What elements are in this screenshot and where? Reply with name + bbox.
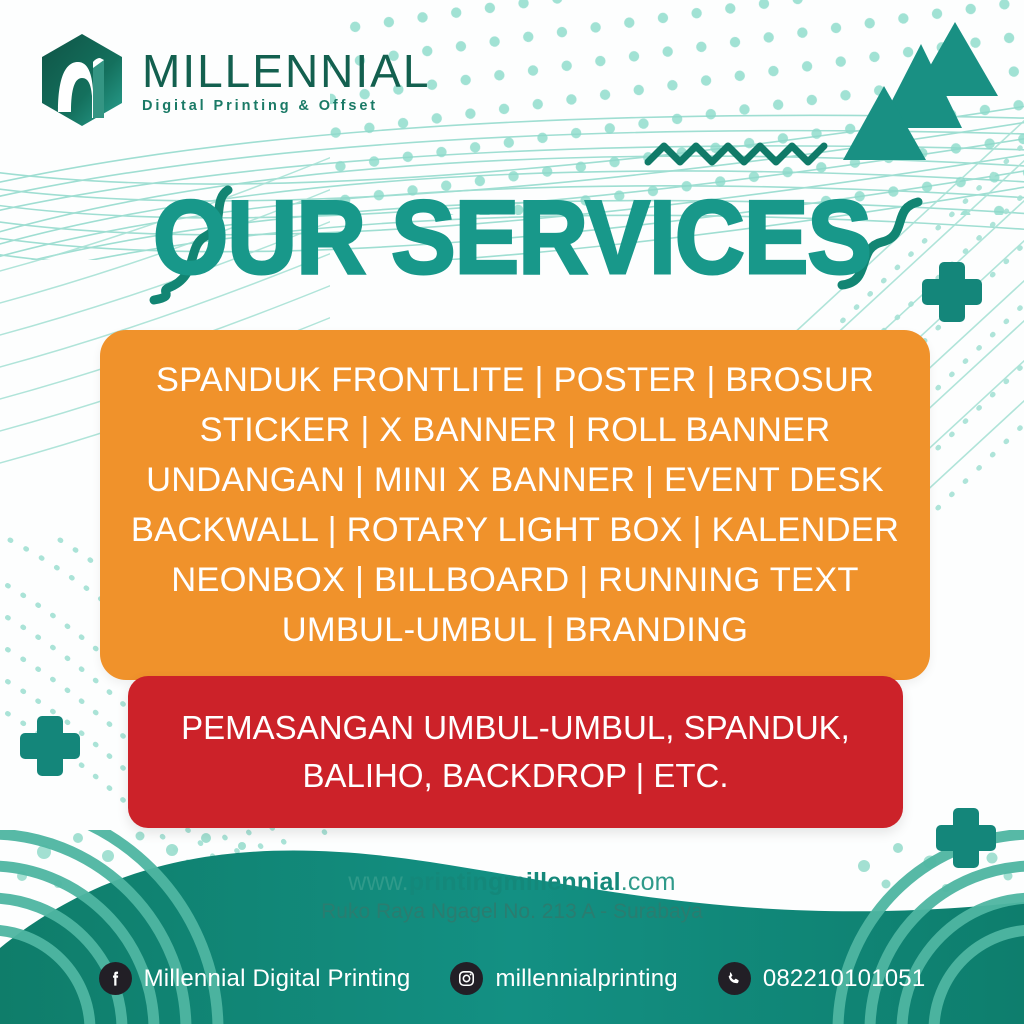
installation-line: PEMASANGAN UMBUL-UMBUL, SPANDUK, (181, 704, 850, 752)
website-suffix: .com (621, 868, 676, 896)
service-line: NEONBOX | BILLBOARD | RUNNING TEXT (171, 555, 858, 605)
hexagon-m-logo (36, 32, 128, 128)
service-line: UNDANGAN | MINI X BANNER | EVENT DESK (146, 455, 884, 505)
social-instagram-label: millennialprinting (495, 967, 677, 991)
three-teal-triangles-top-right (843, 22, 998, 160)
concentric-arcs-bottom-right (838, 834, 1024, 1024)
service-line: BACKWALL | ROTARY LIGHT BOX | KALENDER (131, 505, 899, 555)
poster-canvas: MILLENNIAL Digital Printing & Offset OUR… (0, 0, 1024, 1024)
brand-name: MILLENNIAL (142, 48, 430, 94)
social-facebook[interactable]: Millennial Digital Printing (99, 962, 411, 995)
website-name: printingmillennial (409, 868, 621, 896)
social-phone[interactable]: 082210101051 (718, 962, 926, 995)
social-phone-label: 082210101051 (763, 967, 926, 991)
instagram-icon (450, 962, 483, 995)
brand-wordmark: MILLENNIAL Digital Printing & Offset (142, 48, 430, 114)
service-line: STICKER | X BANNER | ROLL BANNER (200, 405, 831, 455)
facebook-icon (99, 962, 132, 995)
service-line: UMBUL-UMBUL | BRANDING (282, 605, 748, 655)
social-facebook-label: Millennial Digital Printing (144, 967, 411, 991)
brand-tagline: Digital Printing & Offset (142, 99, 430, 114)
service-line: SPANDUK FRONTLITE | POSTER | BROSUR (156, 355, 874, 405)
website-prefix: www. (348, 868, 409, 896)
page-title: OUR SERVICES (36, 186, 988, 290)
address-line: Ruko Raya Ngagel No. 213 A - Surabaya (0, 899, 1024, 924)
brand-logo: MILLENNIAL Digital Printing & Offset (36, 32, 430, 128)
installation-card: PEMASANGAN UMBUL-UMBUL, SPANDUK, BALIHO,… (128, 676, 903, 828)
phone-icon (718, 962, 751, 995)
social-instagram[interactable]: millennialprinting (450, 962, 677, 995)
services-card: SPANDUK FRONTLITE | POSTER | BROSUR STIC… (100, 330, 930, 680)
social-bar: Millennial Digital Printing millennialpr… (0, 962, 1024, 995)
installation-line: BALIHO, BACKDROP | ETC. (302, 752, 728, 800)
website-url[interactable]: www.printingmillennial.com (0, 868, 1024, 897)
teal-zigzag-line (648, 146, 824, 162)
